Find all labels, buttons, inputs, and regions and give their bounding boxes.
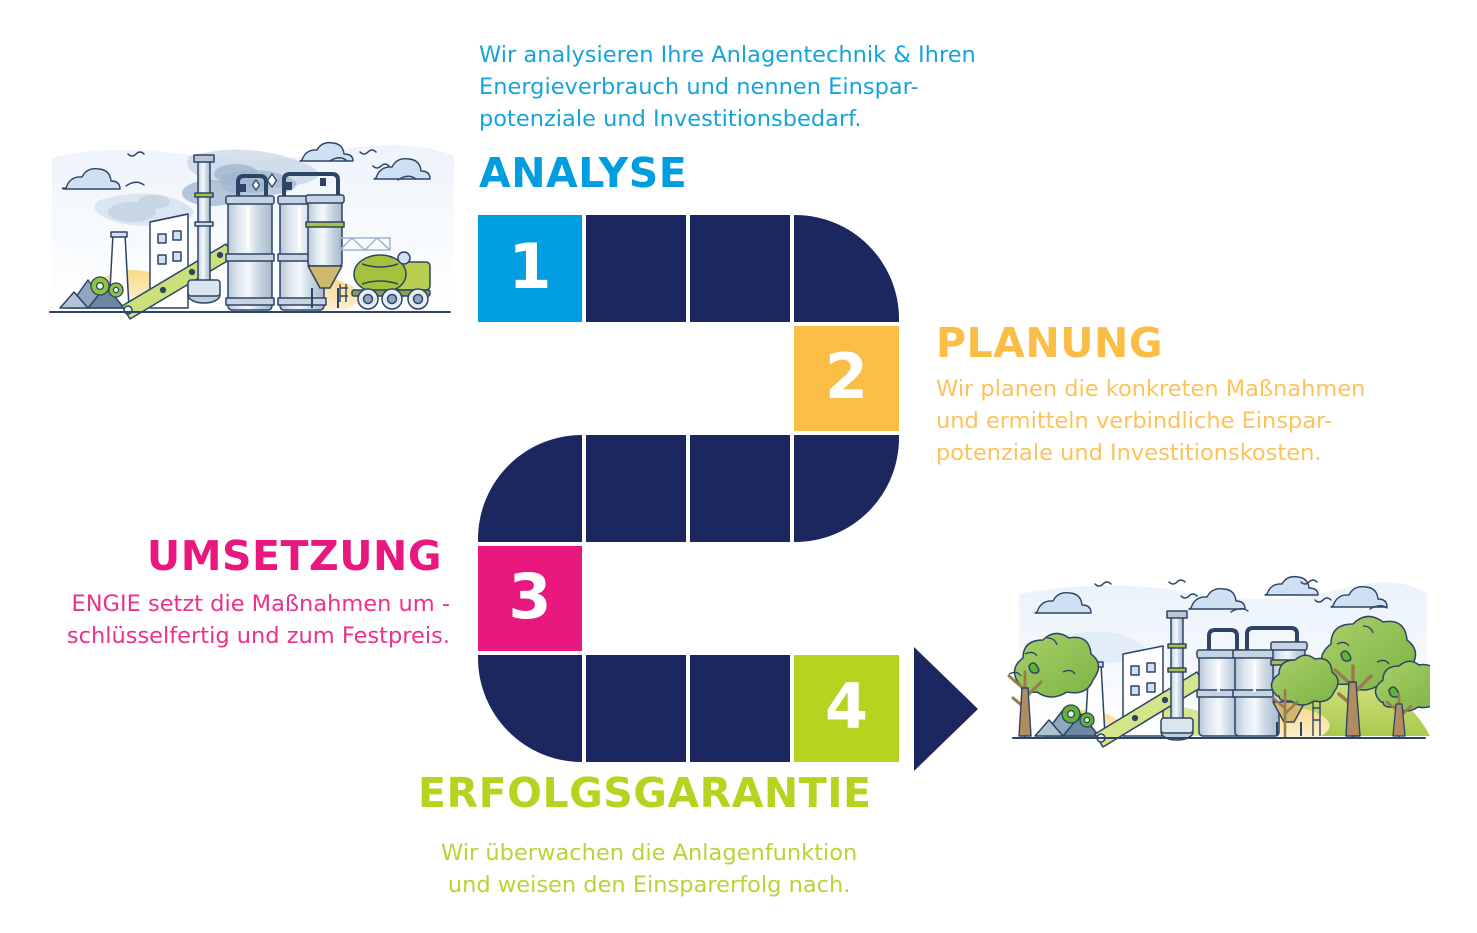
step-4-number-tile[interactable]: 4 bbox=[794, 655, 899, 762]
path-tile-r2c3 bbox=[690, 435, 790, 542]
step-1-number-tile[interactable]: 1 bbox=[478, 215, 582, 322]
path-tile-r2c2 bbox=[586, 435, 686, 542]
step-1-body-line-1: Wir analysieren Ihre Anlagentechnik & Ih… bbox=[479, 40, 976, 72]
step-3-body-line-2: schlüsselfertig und zum Festpreis. bbox=[67, 621, 450, 653]
infographic-canvas: 1 2 3 4 Wir analysieren Ihre Anlagentech… bbox=[0, 0, 1477, 933]
step-4-number: 4 bbox=[794, 655, 899, 762]
step-2-body-line-2: und ermitteln verbindliche Einspar- bbox=[936, 406, 1365, 438]
step-3-heading: UMSETZUNG bbox=[147, 535, 442, 578]
step-4-body-line-2: und weisen den Einsparerfolg nach. bbox=[441, 870, 857, 902]
step-3-body-line-1: ENGIE setzt die Maßnahmen um - bbox=[67, 589, 450, 621]
step-1-body-line-2: Energieverbrauch und nennen Einspar- bbox=[479, 72, 976, 104]
path-tile-r3c2 bbox=[586, 655, 686, 762]
industrial-plant-polluting-illustration bbox=[40, 138, 460, 333]
step-3-number-tile[interactable]: 3 bbox=[478, 546, 582, 651]
industrial-plant-green-illustration bbox=[985, 568, 1430, 760]
path-tile-r1c3 bbox=[690, 215, 790, 322]
step-3-number: 3 bbox=[478, 546, 582, 651]
path-tile-r2c1-rounded bbox=[478, 435, 582, 542]
step-2-number-tile[interactable]: 2 bbox=[794, 326, 899, 431]
step-1-body: Wir analysieren Ihre Anlagentechnik & Ih… bbox=[479, 40, 976, 136]
step-1-body-line-3: potenziale und Investitionsbedarf. bbox=[479, 104, 976, 136]
path-tile-r1c2 bbox=[586, 215, 686, 322]
step-2-body-line-3: potenziale und Investitionskosten. bbox=[936, 438, 1365, 470]
path-tile-r2c4-rounded bbox=[794, 435, 899, 542]
path-tile-r3c1-rounded bbox=[478, 655, 582, 762]
step-4-body: Wir überwachen die Anlagenfunktion und w… bbox=[441, 838, 857, 902]
process-arrow bbox=[914, 647, 978, 771]
step-4-heading: ERFOLGSGARANTIE bbox=[418, 772, 871, 815]
step-2-number: 2 bbox=[794, 326, 899, 431]
step-2-heading: PLANUNG bbox=[936, 322, 1163, 365]
step-1-number: 1 bbox=[478, 215, 582, 322]
path-tile-r3c3 bbox=[690, 655, 790, 762]
step-2-body-line-1: Wir planen die konkreten Maßnahmen bbox=[936, 374, 1365, 406]
step-1-heading: ANALYSE bbox=[479, 152, 687, 195]
step-3-body: ENGIE setzt die Maßnahmen um - schlüssel… bbox=[67, 589, 450, 653]
path-tile-r1c4-rounded bbox=[794, 215, 899, 322]
step-4-body-line-1: Wir überwachen die Anlagenfunktion bbox=[441, 838, 857, 870]
step-2-body: Wir planen die konkreten Maßnahmen und e… bbox=[936, 374, 1365, 470]
